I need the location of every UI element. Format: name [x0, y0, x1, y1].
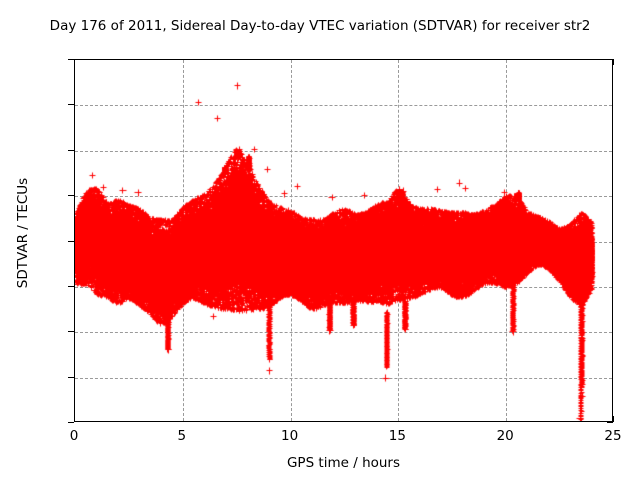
- x-tick-mark-top: [613, 59, 614, 65]
- x-tick-label: 15: [367, 428, 427, 444]
- chart-figure: Day 176 of 2011, Sidereal Day-to-day VTE…: [0, 0, 640, 480]
- x-tick-label: 25: [583, 428, 640, 444]
- y-tick-mark: [68, 422, 74, 423]
- x-axis-label: GPS time / hours: [74, 455, 613, 471]
- page-title: Day 176 of 2011, Sidereal Day-to-day VTE…: [0, 18, 640, 34]
- x-tick-label: 0: [44, 428, 104, 444]
- scatter-series: [75, 60, 613, 422]
- x-tick-mark: [613, 416, 614, 422]
- x-tick-label: 5: [152, 428, 212, 444]
- plot-area: [74, 59, 613, 422]
- y-tick-mark-right: [607, 422, 613, 423]
- x-tick-label: 10: [260, 428, 320, 444]
- y-axis-label: SDTVAR / TECUs: [15, 43, 31, 423]
- x-tick-label: 20: [475, 428, 535, 444]
